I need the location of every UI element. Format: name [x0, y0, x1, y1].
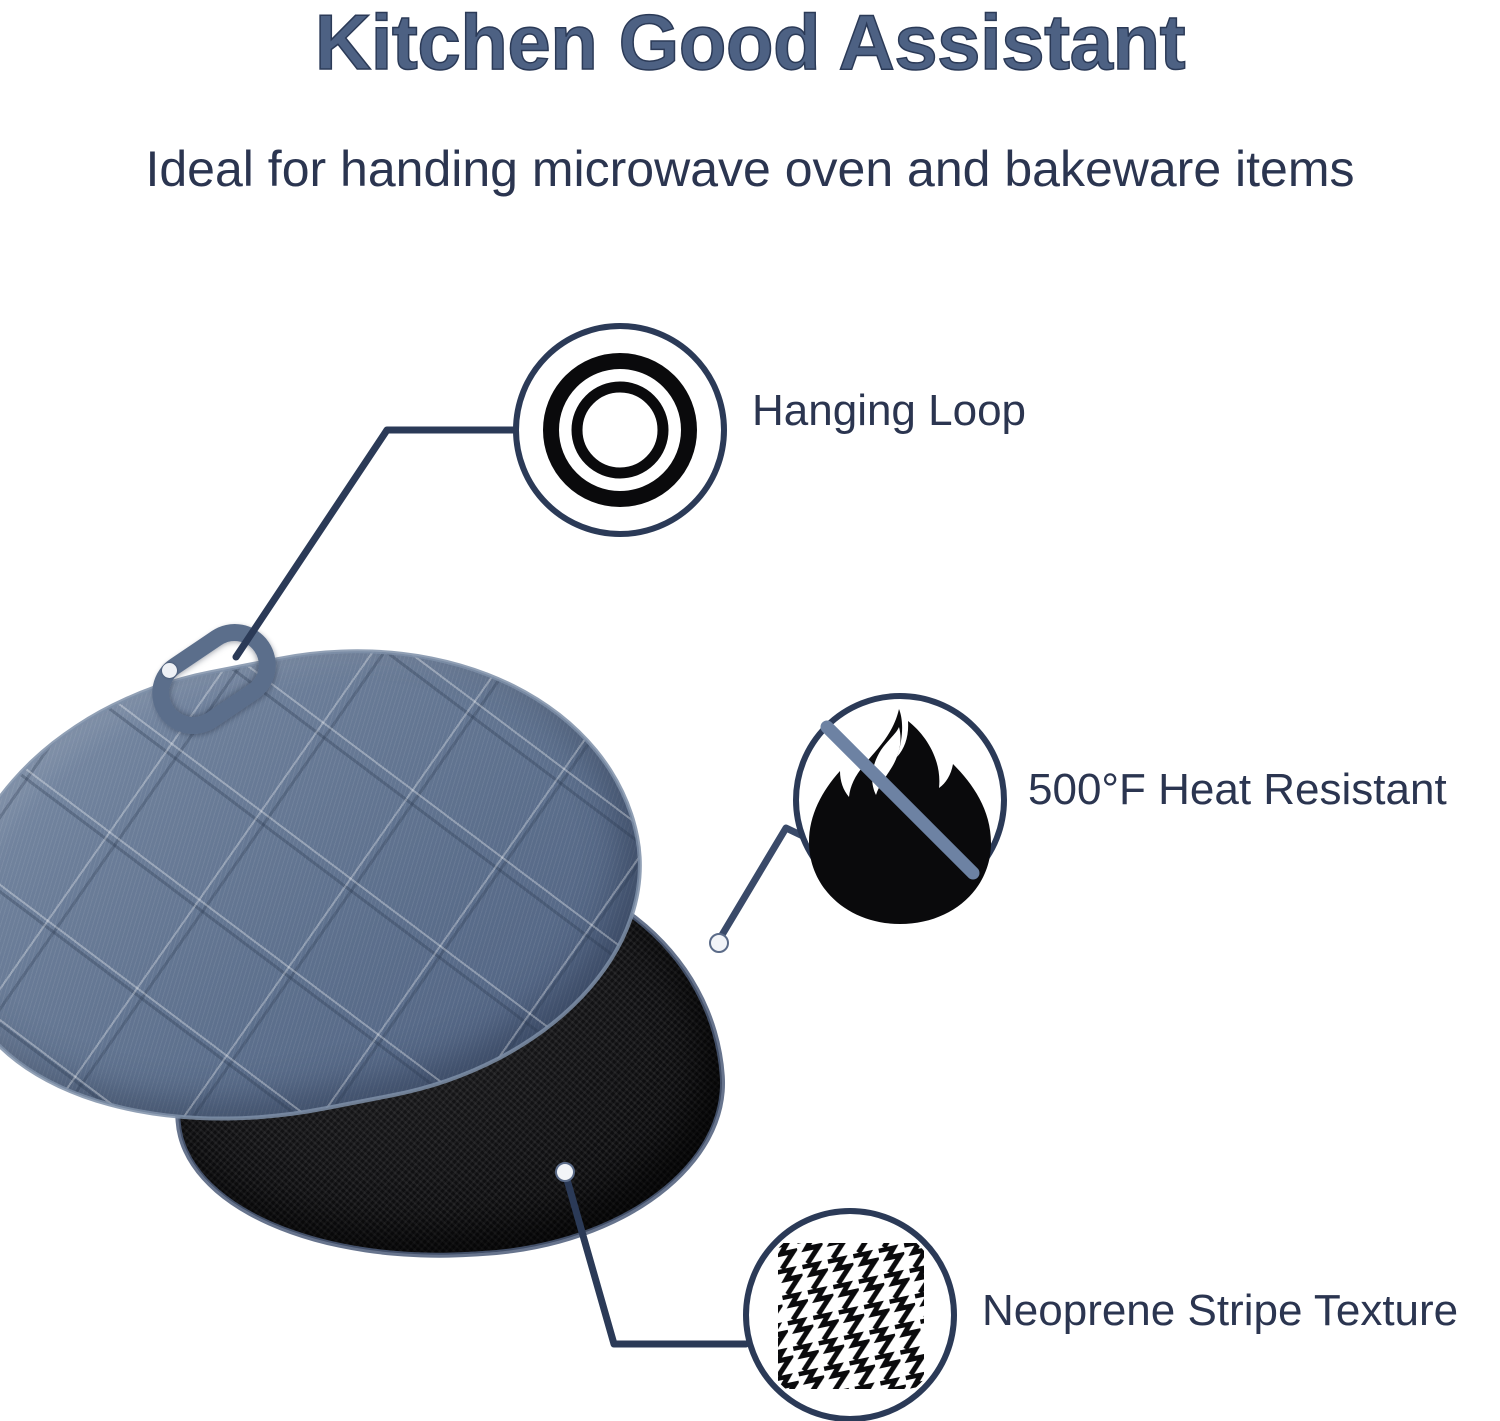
- zigzag-pattern-icon: [778, 1243, 924, 1389]
- callout-neoprene-texture[interactable]: [746, 1211, 954, 1419]
- callout-label-heat-resistant: 500°F Heat Resistant: [1028, 768, 1447, 812]
- callout-label-hanging-loop: Hanging Loop: [752, 389, 1026, 433]
- leader-dot-heat-resistant: [710, 934, 728, 952]
- leader-dot-neoprene: [556, 1163, 574, 1181]
- product-infographic: Kitchen Good Assistant Ideal for handing…: [0, 0, 1500, 1421]
- leader-line-neoprene: [566, 1176, 746, 1344]
- callout-label-neoprene-texture: Neoprene Stripe Texture: [982, 1289, 1458, 1333]
- callout-heat-resistant[interactable]: [796, 696, 1004, 924]
- callout-hanging-loop[interactable]: [516, 326, 724, 534]
- leader-line-hanging-loop: [236, 430, 516, 657]
- callout-overlay: [0, 0, 1500, 1421]
